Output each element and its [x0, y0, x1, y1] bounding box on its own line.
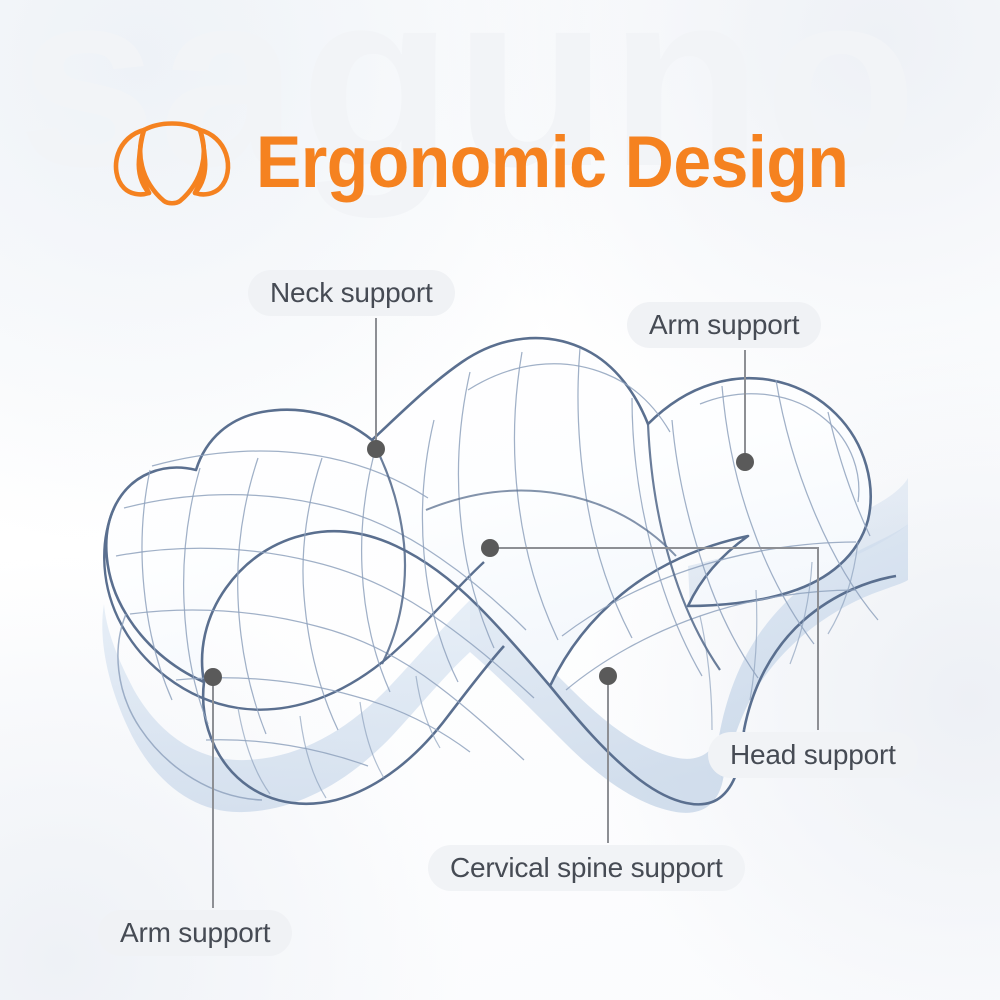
dot-arm-support-right[interactable] [736, 453, 754, 471]
dot-neck-support[interactable] [367, 440, 385, 458]
callout-label-cervical-spine-support: Cervical spine support [428, 845, 745, 891]
infographic-page: saguno Ergonomic Design [0, 0, 1000, 1000]
dot-cervical-spine-support[interactable] [599, 667, 617, 685]
callout-label-head-support: Head support [708, 732, 918, 778]
dot-arm-support-left[interactable] [204, 668, 222, 686]
callout-label-arm-support-right: Arm support [627, 302, 821, 348]
dot-head-support[interactable] [481, 539, 499, 557]
callout-label-arm-support-left: Arm support [98, 910, 292, 956]
callout-label-neck-support: Neck support [248, 270, 455, 316]
